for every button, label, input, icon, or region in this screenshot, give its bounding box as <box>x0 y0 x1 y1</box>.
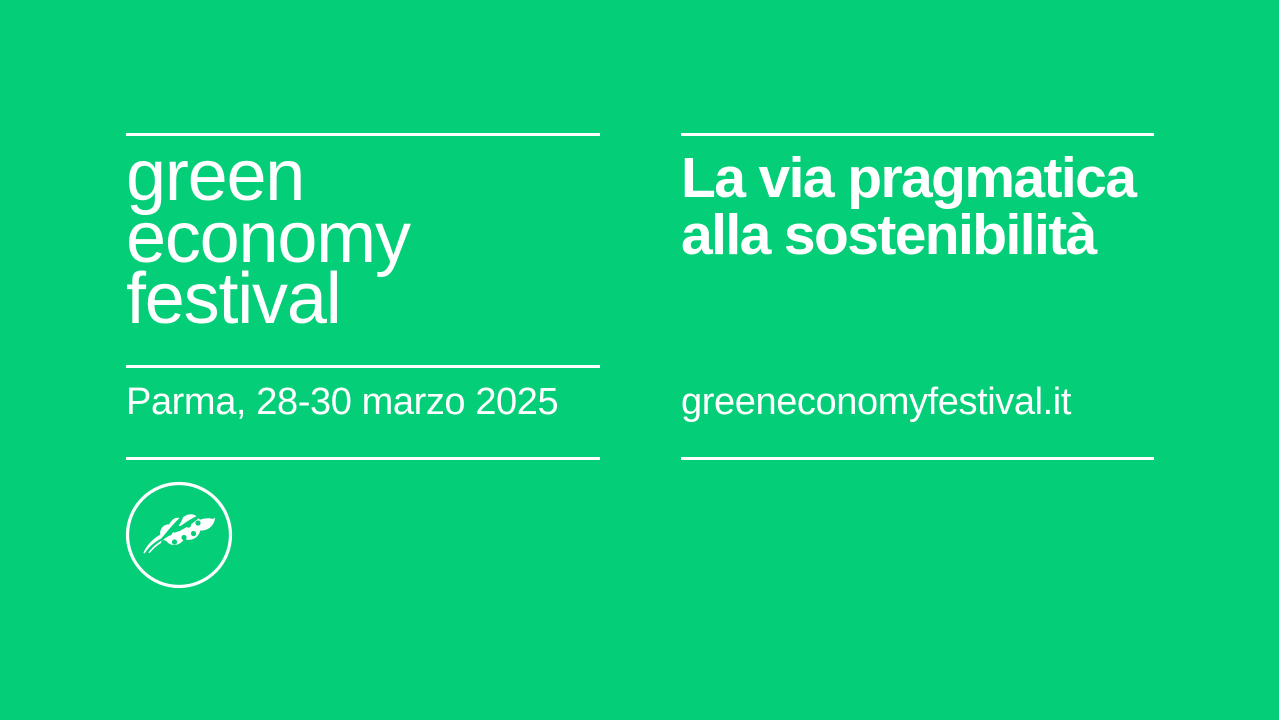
tagline-line-1: La via pragmatica <box>681 150 1201 207</box>
festival-title-line-3: festival <box>126 269 686 331</box>
website-url[interactable]: greeneconomyfestival.it <box>681 382 1071 424</box>
right-top-rule <box>681 133 1154 136</box>
tagline-line-2: alla sostenibilità <box>681 207 1201 264</box>
leaf-in-circle-icon <box>125 481 233 589</box>
left-mid-rule <box>126 365 600 368</box>
leaf-in-circle-logo <box>125 481 233 589</box>
left-column: green economy festival Parma, 28-30 marz… <box>126 0 600 720</box>
right-bottom-rule <box>681 457 1154 460</box>
right-column: La via pragmatica alla sostenibilità gre… <box>681 0 1154 720</box>
poster-canvas: green economy festival Parma, 28-30 marz… <box>0 0 1279 720</box>
left-bottom-rule <box>126 457 600 460</box>
tagline: La via pragmatica alla sostenibilità <box>681 150 1201 264</box>
festival-title: green economy festival <box>126 146 686 331</box>
event-location-date: Parma, 28-30 marzo 2025 <box>126 382 558 424</box>
